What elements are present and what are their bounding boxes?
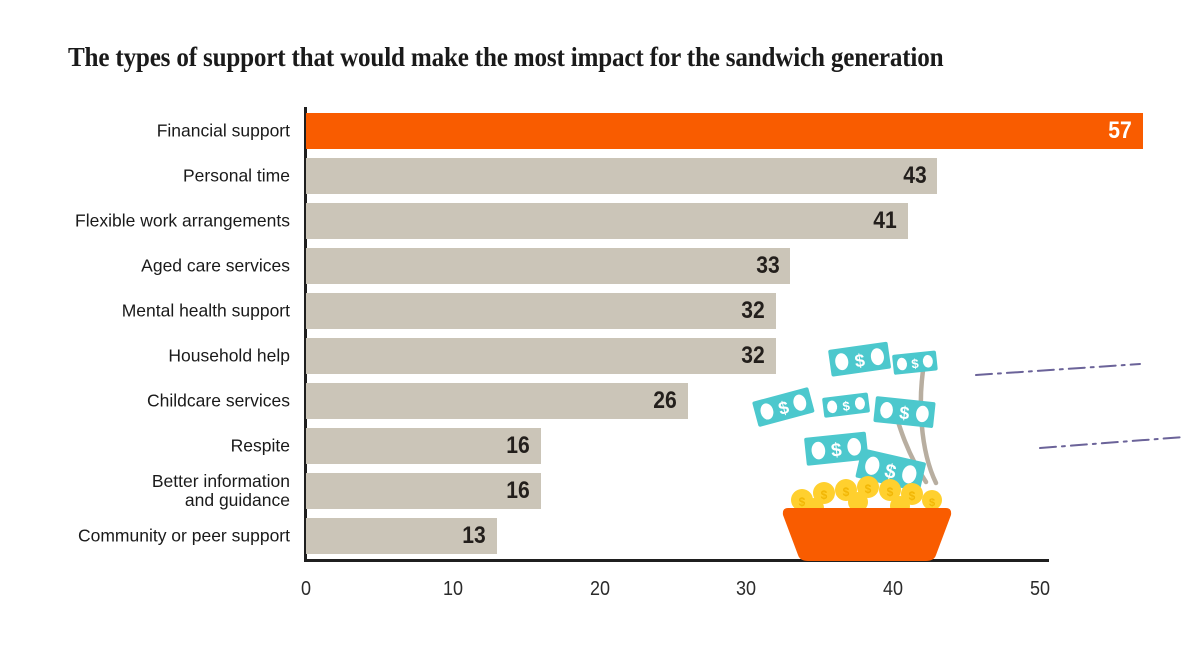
x-tick-label: 20	[573, 578, 627, 601]
table-row[interactable]: Financial support57	[0, 113, 1200, 149]
chart-root: The types of support that would make the…	[0, 0, 1200, 650]
category-label: Flexible work arrangements	[30, 212, 290, 231]
table-row[interactable]: Aged care services33	[0, 248, 1200, 284]
table-row[interactable]: Flexible work arrangements41	[0, 203, 1200, 239]
table-row[interactable]: Household help32	[0, 338, 1200, 374]
table-row[interactable]: Personal time43	[0, 158, 1200, 194]
arc-right	[921, 364, 936, 483]
bar[interactable]: 16	[306, 428, 541, 464]
category-label: Household help	[30, 347, 290, 366]
bar-value-label: 57	[1108, 117, 1131, 145]
swoosh-arcs	[892, 364, 936, 483]
bar-value-label: 16	[506, 477, 529, 505]
category-label: Mental health support	[30, 302, 290, 321]
bar[interactable]: 13	[306, 518, 497, 554]
category-label: Personal time	[30, 167, 290, 186]
table-row[interactable]: Mental health support32	[0, 293, 1200, 329]
category-label: Better information and guidance	[30, 472, 290, 510]
bar[interactable]: 41	[306, 203, 908, 239]
x-tick-label: 0	[279, 578, 333, 601]
category-label: Aged care services	[30, 257, 290, 276]
bar[interactable]: 32	[306, 293, 776, 329]
table-row[interactable]: Respite16	[0, 428, 1200, 464]
bar[interactable]: 26	[306, 383, 688, 419]
bar-value-label: 41	[873, 207, 896, 235]
bar-value-label: 32	[741, 342, 764, 370]
x-tick-label: 30	[719, 578, 773, 601]
bar-value-label: 43	[903, 162, 926, 190]
bar[interactable]: 43	[306, 158, 937, 194]
category-label: Childcare services	[30, 392, 290, 411]
bar-value-label: 33	[756, 252, 779, 280]
x-tick-label: 50	[1013, 578, 1067, 601]
category-label: Community or peer support	[30, 527, 290, 546]
table-row[interactable]: Better information and guidance16	[0, 473, 1200, 509]
bar[interactable]: 57	[306, 113, 1143, 149]
category-label: Respite	[30, 437, 290, 456]
category-label: Financial support	[30, 122, 290, 141]
bar[interactable]: 32	[306, 338, 776, 374]
table-row[interactable]: Childcare services26	[0, 383, 1200, 419]
bar-value-label: 13	[462, 522, 485, 550]
plot-area: Financial support57Personal time43Flexib…	[0, 0, 1200, 650]
bar-value-label: 16	[506, 432, 529, 460]
x-tick-label: 40	[866, 578, 920, 601]
table-row[interactable]: Community or peer support13	[0, 518, 1200, 554]
bar-value-label: 26	[653, 387, 676, 415]
bar[interactable]: 16	[306, 473, 541, 509]
bar-value-label: 32	[741, 297, 764, 325]
bar[interactable]: 33	[306, 248, 790, 284]
x-tick-label: 10	[426, 578, 480, 601]
x-axis-line	[304, 559, 1049, 562]
